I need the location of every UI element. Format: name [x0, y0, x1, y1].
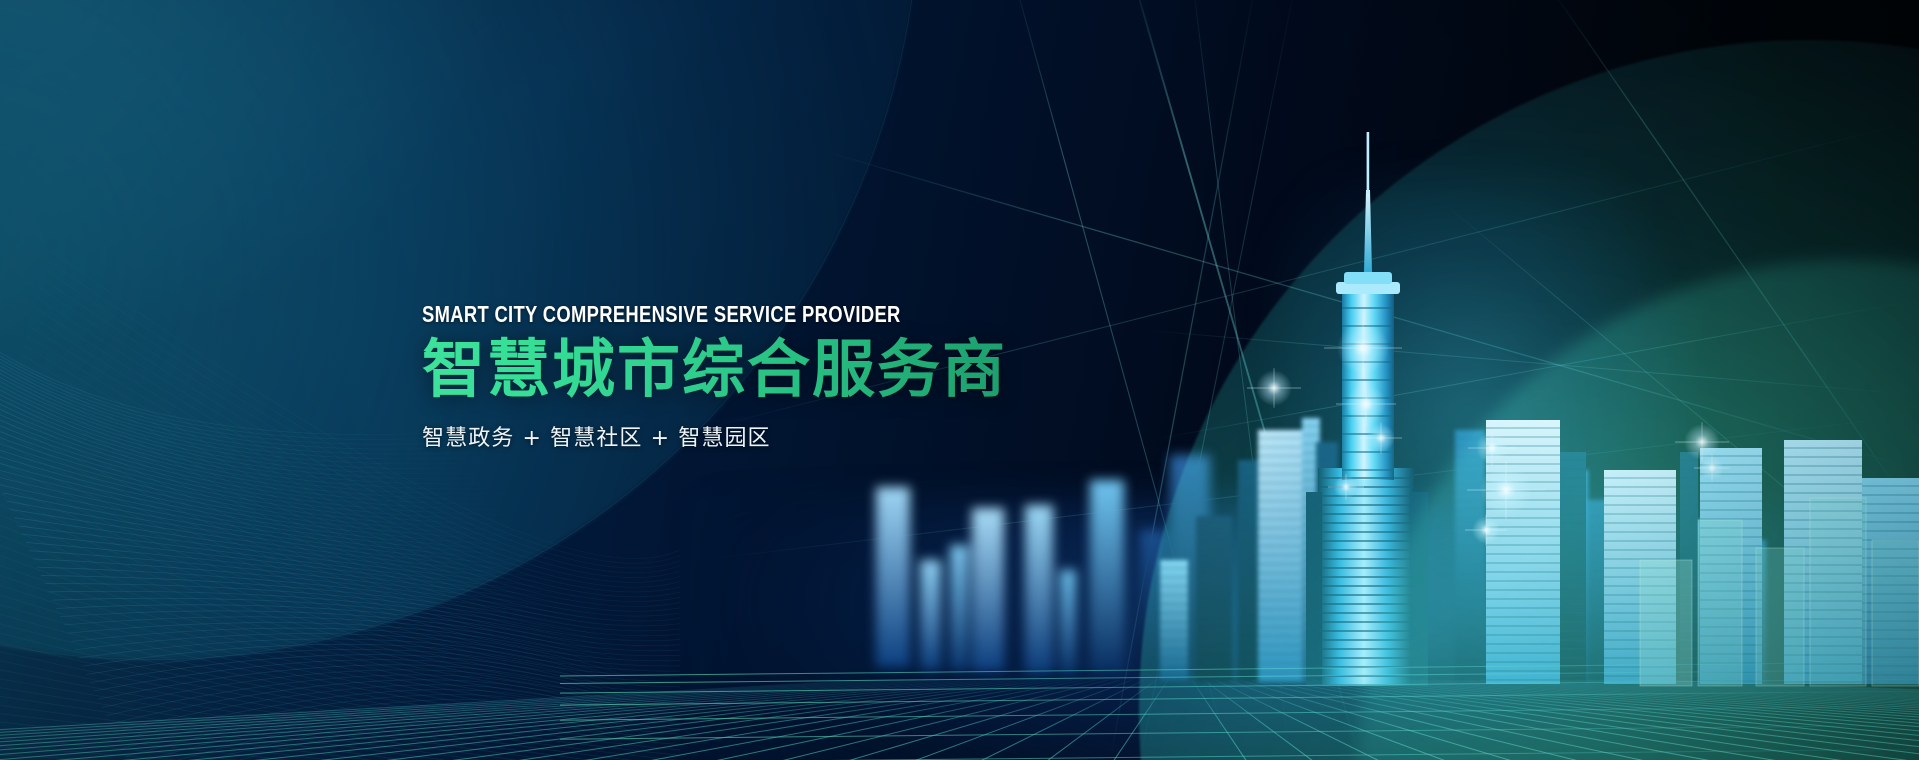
- hero-eyebrow: SMART CITY COMPREHENSIVE SERVICE PROVIDE…: [422, 302, 1030, 327]
- hero-subline: 智慧政务 + 智慧社区 + 智慧园区: [422, 420, 1182, 452]
- hero-headline: 智慧城市综合服务商: [422, 336, 1182, 404]
- smart-city-hero-banner: SMART CITY COMPREHENSIVE SERVICE PROVIDE…: [0, 0, 1919, 760]
- hero-copy-block: SMART CITY COMPREHENSIVE SERVICE PROVIDE…: [422, 302, 1182, 452]
